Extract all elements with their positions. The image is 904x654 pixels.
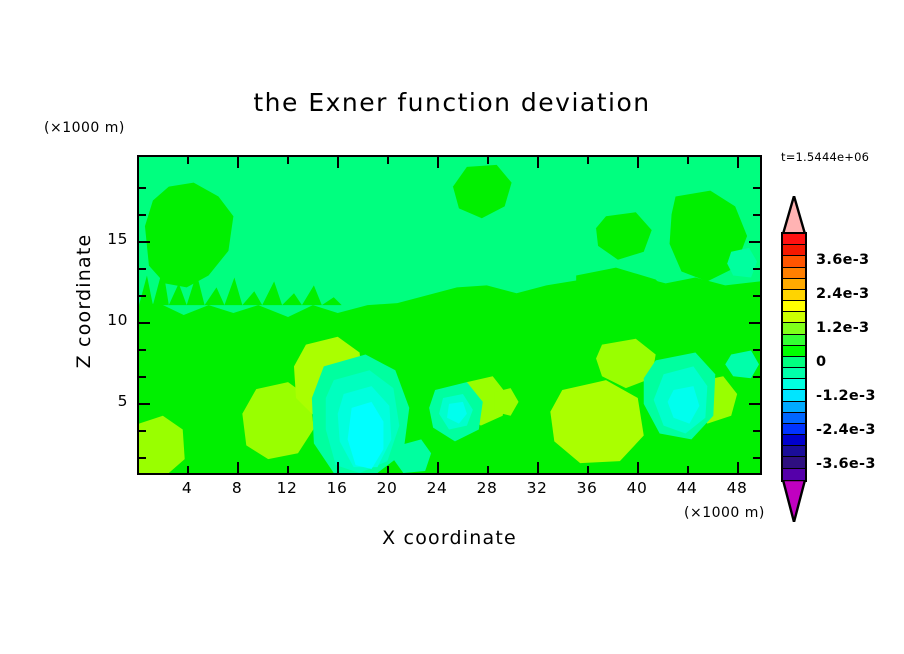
y-tick-mark [139, 241, 150, 243]
y-tick-mark-right [753, 268, 760, 270]
x-tick-mark-top [737, 157, 739, 168]
x-tick-label: 20 [377, 479, 398, 497]
x-tick-label: 32 [527, 479, 548, 497]
x-tick-label: 12 [277, 479, 298, 497]
colorbar-band [783, 301, 805, 312]
y-tick-label: 15 [107, 230, 128, 248]
y-tick-mark [139, 403, 150, 405]
colorbar-band [783, 424, 805, 435]
colorbar-tick-label: -3.6e-3 [816, 456, 876, 472]
x-tick-mark [637, 462, 639, 473]
colorbar-band [783, 335, 805, 346]
x-tick-label: 36 [577, 479, 598, 497]
colorbar-band [783, 323, 805, 334]
x-axis-unit-label: (×1000 m) [684, 505, 765, 521]
colorbar-tick-label: 1.2e-3 [816, 320, 869, 336]
colorbar-over-arrow [781, 196, 807, 234]
colorbar-band [783, 245, 805, 256]
plot-title: the Exner function deviation [0, 88, 904, 117]
colorbar-band [783, 312, 805, 323]
x-tick-mark [687, 466, 689, 473]
y-tick-mark-right [753, 376, 760, 378]
y-tick-mark [139, 430, 146, 432]
colorbar-band [783, 290, 805, 301]
y-axis-unit-label: (×1000 m) [44, 120, 125, 136]
x-tick-mark [587, 466, 589, 473]
colorbar-band [783, 402, 805, 413]
x-tick-label: 28 [477, 479, 498, 497]
x-tick-mark-top [337, 157, 339, 168]
colorbar-band [783, 457, 805, 468]
x-tick-mark-top [437, 157, 439, 168]
x-tick-mark-top [237, 157, 239, 168]
x-tick-mark [437, 462, 439, 473]
colorbar-band [783, 390, 805, 401]
colorbar-tick-label: 2.4e-3 [816, 286, 869, 302]
colorbar-band [783, 368, 805, 379]
colorbar-tick-label: -1.2e-3 [816, 388, 876, 404]
x-tick-mark-top [587, 157, 589, 164]
colorbar-band [783, 379, 805, 390]
x-tick-mark [337, 462, 339, 473]
x-tick-label: 24 [427, 479, 448, 497]
y-tick-mark [139, 457, 146, 459]
y-tick-mark-right [749, 241, 760, 243]
x-tick-mark [287, 466, 289, 473]
y-tick-mark [139, 268, 146, 270]
colorbar-band [783, 413, 805, 424]
x-tick-mark-top [687, 157, 689, 164]
colorbar-band [783, 435, 805, 446]
x-tick-label: 8 [232, 479, 242, 497]
y-tick-mark [139, 214, 146, 216]
colorbar-band [783, 268, 805, 279]
x-tick-label: 48 [727, 479, 748, 497]
x-tick-mark-top [287, 157, 289, 164]
y-tick-mark-right [749, 322, 760, 324]
colorbar-scale [781, 232, 807, 482]
y-axis-title: Z coordinate [73, 191, 95, 411]
x-tick-label: 40 [627, 479, 648, 497]
y-tick-label: 10 [107, 311, 128, 329]
x-tick-mark-top [487, 157, 489, 164]
x-tick-mark-top [637, 157, 639, 168]
colorbar-band [783, 357, 805, 368]
y-tick-mark [139, 322, 150, 324]
y-tick-mark [139, 295, 146, 297]
colorbar-tick-label: 3.6e-3 [816, 252, 869, 268]
x-tick-label: 16 [327, 479, 348, 497]
x-tick-mark-top [387, 157, 389, 164]
y-tick-mark-right [749, 403, 760, 405]
x-tick-mark [187, 466, 189, 473]
x-tick-mark [737, 462, 739, 473]
y-tick-mark-right [753, 187, 760, 189]
x-tick-mark [237, 462, 239, 473]
x-axis-title: X coordinate [137, 527, 762, 549]
colorbar-band [783, 446, 805, 457]
colorbar-tick-label: 0 [816, 354, 826, 370]
y-tick-mark-right [753, 430, 760, 432]
x-tick-label: 4 [182, 479, 192, 497]
colorbar-band [783, 469, 805, 480]
y-tick-mark-right [753, 457, 760, 459]
colorbar-band [783, 256, 805, 267]
timestamp-annotation: t=1.5444e+06 [781, 150, 869, 164]
y-tick-mark [139, 376, 146, 378]
x-tick-mark-top [537, 157, 539, 168]
x-tick-mark [537, 462, 539, 473]
x-tick-label: 44 [677, 479, 698, 497]
y-tick-mark-right [753, 214, 760, 216]
colorbar-under-arrow [781, 480, 807, 522]
y-tick-label: 5 [118, 392, 128, 410]
x-tick-mark [387, 466, 389, 473]
colorbar-tick-label: -2.4e-3 [816, 422, 876, 438]
y-tick-mark-right [753, 295, 760, 297]
x-tick-mark-top [187, 157, 189, 164]
x-tick-mark [487, 466, 489, 473]
colorbar-band [783, 234, 805, 245]
y-tick-mark-right [753, 349, 760, 351]
contour-plot-area [137, 155, 762, 475]
contour-field [139, 157, 760, 473]
colorbar-band [783, 346, 805, 357]
y-tick-mark [139, 187, 146, 189]
colorbar-band [783, 279, 805, 290]
y-tick-mark [139, 349, 146, 351]
